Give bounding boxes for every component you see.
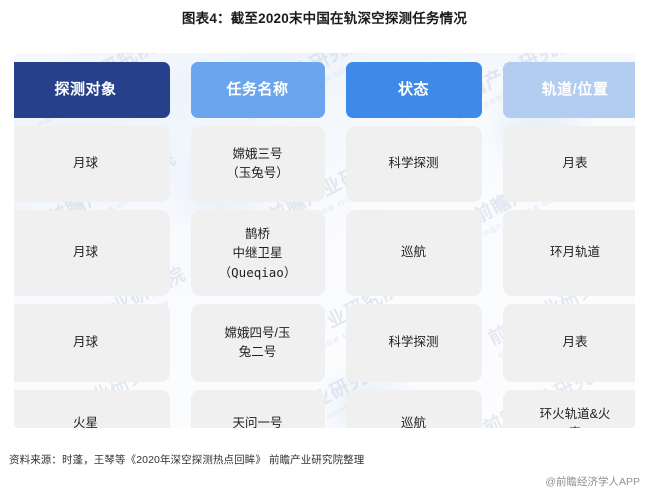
table-row: 科学探测	[346, 304, 482, 382]
table-row: 天问一号	[191, 390, 325, 428]
table-row: 月球	[14, 126, 170, 202]
data-table: 探测对象 任务名称 状态 轨道/位置 月球 嫦娥三号 （玉兔号） 科学探测 月表…	[14, 53, 635, 428]
app-watermark: @前瞻经济学人APP	[545, 474, 640, 489]
table-row: 月表	[503, 126, 636, 202]
column-header-status: 状态	[346, 62, 482, 118]
table-row: 科学探测	[346, 126, 482, 202]
column-header-object: 探测对象	[14, 62, 170, 118]
column-header-orbit: 轨道/位置	[503, 62, 636, 118]
table-row: 巡航	[346, 210, 482, 296]
table-row: 火星	[14, 390, 170, 428]
table-row: 嫦娥三号 （玉兔号）	[191, 126, 325, 202]
table-row: 环火轨道&火 表	[503, 390, 636, 428]
table-row: 巡航	[346, 390, 482, 428]
column-header-mission: 任务名称	[191, 62, 325, 118]
table-row: 月表	[503, 304, 636, 382]
table-row: 环月轨道	[503, 210, 636, 296]
table-row: 月球	[14, 304, 170, 382]
table-panel: 前瞻产业研究院中国产业咨询领导者·400-639-9936 前瞻产业研究院中国产…	[14, 53, 635, 428]
table-row: 月球	[14, 210, 170, 296]
source-note: 资料来源：时蓬，王琴等《2020年深空探测热点回眸》 前瞻产业研究院整理	[9, 452, 364, 467]
page-title: 图表4：截至2020末中国在轨深空探测任务情况	[0, 0, 649, 27]
table-row: 鹊桥 中继卫星 （Queqiao）	[191, 210, 325, 296]
table-row: 嫦娥四号/玉 兔二号	[191, 304, 325, 382]
